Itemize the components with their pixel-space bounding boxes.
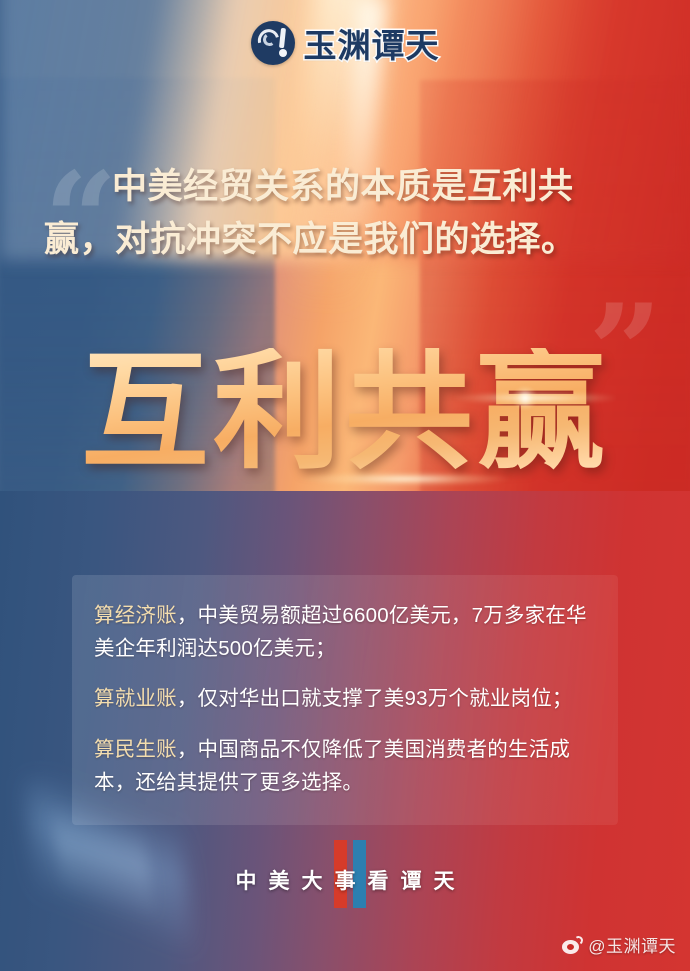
paragraph-highlight: 算经济账 [94,604,177,627]
footer-tagline: 中美大事看谭天 [224,865,467,895]
paragraph-rest: ，仅对华出口就支撑了美93万个就业岗位； [177,687,573,710]
headline-text: 互利共赢 [0,348,690,476]
weibo-handle: @玉渊谭天 [588,932,676,957]
body-paragraph: 算民生账，中国商品不仅降低了美国消费者的生活成本，还给其提供了更多选择。 [94,733,594,799]
quote-block: “ ” 中美经贸关系的本质是互利共 赢，对抗冲突不应是我们的选择。 [0,160,690,266]
weibo-watermark: @玉渊谭天 [562,932,676,957]
logo-stem [279,27,286,47]
body-panel: 算经济账，中美贸易额超过6600亿美元，7万多家在华美企年利润达500亿美元； … [72,575,618,825]
poster-canvas: 玉渊谭天 “ ” 中美经贸关系的本质是互利共 赢，对抗冲突不应是我们的选择。 互… [0,0,690,971]
yuyuan-tantian-logo-icon [251,21,295,65]
paragraph-highlight: 算民生账 [94,738,177,761]
weibo-icon [562,936,583,954]
body-paragraph: 算就业账，仅对华出口就支撑了美93万个就业岗位； [94,682,594,715]
weibo-icon-pupil [567,944,574,950]
weibo-icon-arc [574,935,584,945]
paragraph-highlight: 算就业账 [94,687,177,710]
logo-dot [279,49,287,57]
header: 玉渊谭天 [0,0,690,85]
footer: 中美大事看谭天 [0,856,690,904]
quote-line-2: 赢，对抗冲突不应是我们的选择。 [44,213,632,266]
body-paragraph: 算经济账，中美贸易额超过6600亿美元，7万多家在华美企年利润达500亿美元； [94,599,594,665]
brand-title: 玉渊谭天 [304,19,440,67]
quote-line-1: 中美经贸关系的本质是互利共 [112,166,574,207]
quote-text: 中美经贸关系的本质是互利共 赢，对抗冲突不应是我们的选择。 [112,160,632,266]
